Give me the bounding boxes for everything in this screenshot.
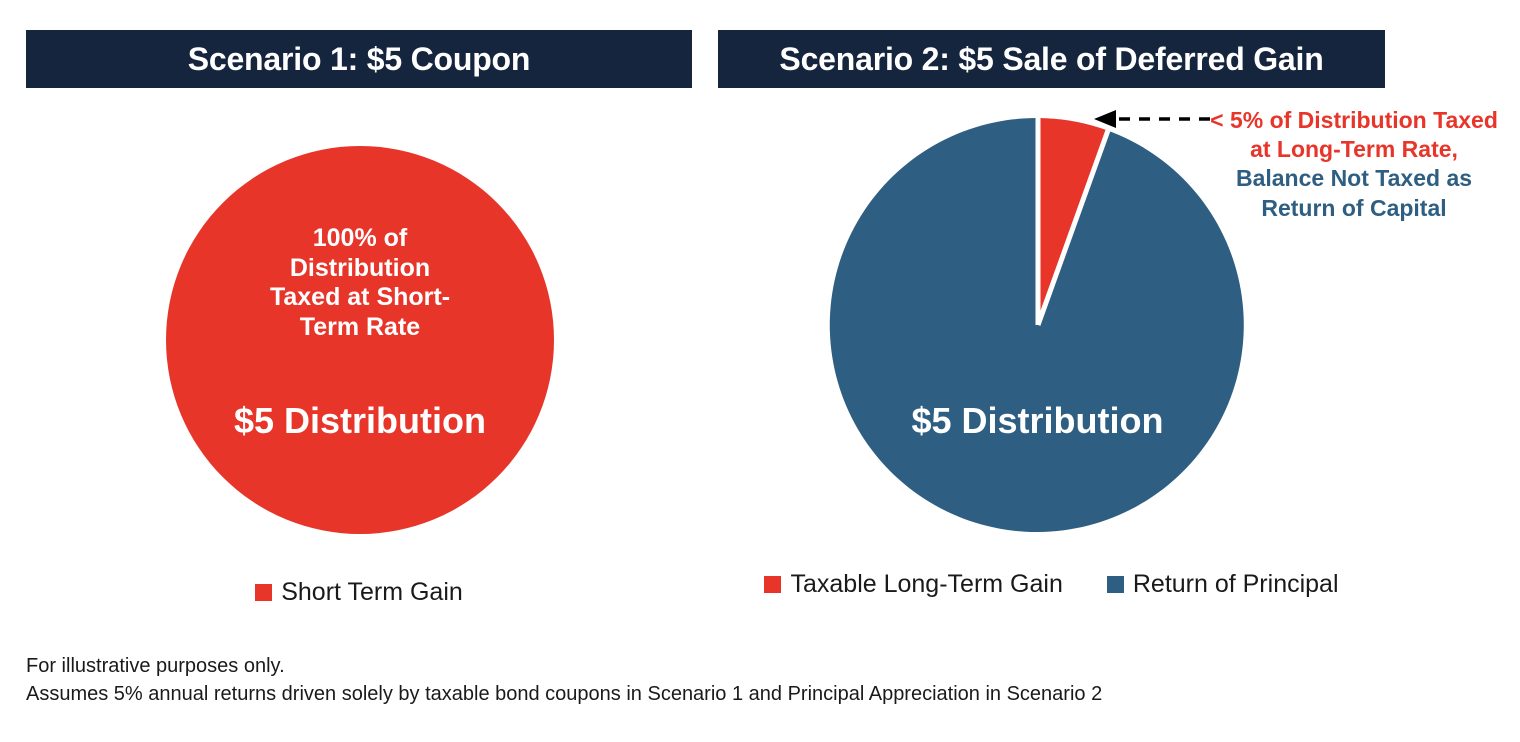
scenario-1-legend: Short Term Gain xyxy=(26,578,692,607)
scenario-1-pie-svg xyxy=(160,140,560,540)
infographic-canvas: Scenario 1: $5 Coupon Scenario 2: $5 Sal… xyxy=(0,0,1520,742)
legend-label: Return of Principal xyxy=(1133,570,1339,599)
scenario-1-title-text: Scenario 1: $5 Coupon xyxy=(188,41,531,78)
dashed-left-arrow-icon xyxy=(1086,108,1210,136)
scenario-2-title-bar: Scenario 2: $5 Sale of Deferred Gain xyxy=(718,30,1385,88)
legend-label: Short Term Gain xyxy=(281,578,463,607)
legend-item-taxable-long-term-gain: Taxable Long-Term Gain xyxy=(764,570,1062,599)
scenario-2-title-text: Scenario 2: $5 Sale of Deferred Gain xyxy=(779,41,1323,78)
legend-swatch-icon xyxy=(255,584,272,601)
callout-annotation: < 5% of Distribution Taxed at Long-Term … xyxy=(1208,106,1500,223)
legend-label: Taxable Long-Term Gain xyxy=(790,570,1062,599)
annotation-red-text: < 5% of Distribution Taxed at Long-Term … xyxy=(1210,107,1498,162)
scenario-1-title-bar: Scenario 1: $5 Coupon xyxy=(26,30,692,88)
footnote-line-1: For illustrative purposes only. xyxy=(26,652,1446,680)
pie-slice-short-term-gain xyxy=(166,146,554,534)
legend-swatch-icon xyxy=(764,576,781,593)
arrow-head xyxy=(1094,110,1116,128)
scenario-2-pie-svg xyxy=(825,112,1251,538)
legend-item-short-term-gain: Short Term Gain xyxy=(255,578,463,607)
footnote: For illustrative purposes only. Assumes … xyxy=(26,652,1446,709)
scenario-2-pie-chart xyxy=(825,112,1251,538)
scenario-2-legend: Taxable Long-Term Gain Return of Princip… xyxy=(718,570,1385,599)
legend-swatch-icon xyxy=(1107,576,1124,593)
legend-item-return-of-principal: Return of Principal xyxy=(1107,570,1339,599)
footnote-line-2: Assumes 5% annual returns driven solely … xyxy=(26,680,1446,708)
annotation-blue-text: Balance Not Taxed as Return of Capital xyxy=(1236,165,1472,220)
scenario-1-pie-chart xyxy=(160,140,560,540)
